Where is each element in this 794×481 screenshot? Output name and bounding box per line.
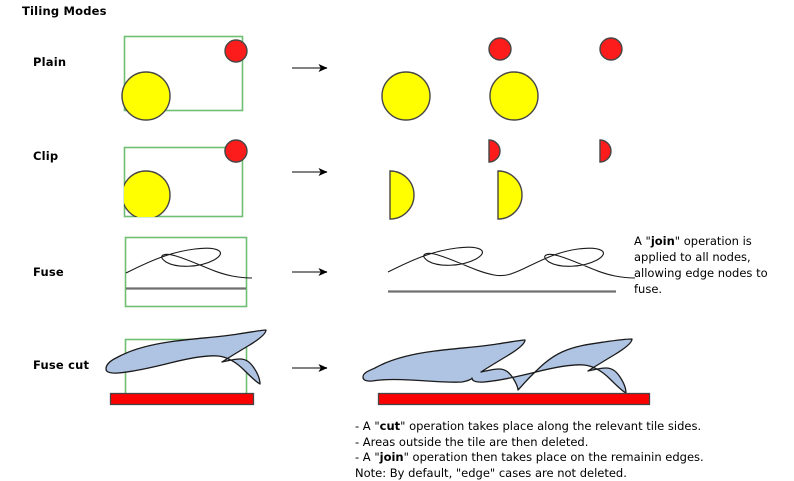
bar-red-fuse-cut-output bbox=[379, 394, 650, 405]
node-yellow-clip-input bbox=[122, 171, 170, 219]
node-red-plain-out-1 bbox=[489, 38, 511, 60]
fuse-cut-note-line-1: - A "cut" operation takes place along th… bbox=[355, 419, 704, 435]
row-label-fuse: Fuse bbox=[33, 265, 64, 279]
fuse-cut-note-line-3-post: " operation then takes place on the rema… bbox=[404, 450, 704, 464]
bar-red-fuse-cut-input bbox=[111, 394, 254, 405]
fuse-note-line-2: applied to all nodes, bbox=[634, 249, 768, 265]
row-label-clip: Clip bbox=[33, 149, 58, 163]
node-yellow-plain-out-1 bbox=[382, 72, 430, 120]
node-yellow-plain-input bbox=[122, 72, 170, 120]
fuse-note-line-4: fuse. bbox=[634, 281, 768, 297]
fuse-cut-note-line-1-pre: - A " bbox=[355, 419, 380, 433]
fuse-cut-note-line-1-bold: cut bbox=[380, 419, 401, 433]
node-red-plain-input bbox=[225, 40, 247, 62]
fuse-cut-note-line-1-post: " operation takes place along the releva… bbox=[400, 419, 701, 433]
node-yellow-plain-out-2 bbox=[490, 72, 538, 120]
fuse-cut-note-line-4: Note: By default, "edge" cases are not d… bbox=[355, 466, 704, 481]
fuse-cut-note-line-3-pre: - A " bbox=[355, 450, 380, 464]
node-red-clip-input-marker bbox=[225, 140, 247, 162]
fuse-note-line-1: A "join" operation is bbox=[634, 233, 768, 249]
fuse-note-line-1-bold: join bbox=[651, 234, 675, 248]
row-label-fuse-cut: Fuse cut bbox=[33, 358, 89, 372]
fuse-cut-note-line-2: - Areas outside the tile are then delete… bbox=[355, 435, 704, 451]
page-title: Tiling Modes bbox=[22, 4, 107, 18]
fuse-cut-note: - A "cut" operation takes place along th… bbox=[355, 419, 704, 481]
fuse-note: A "join" operation is applied to all nod… bbox=[634, 233, 768, 297]
fuse-note-line-1-post: " operation is bbox=[675, 234, 752, 248]
fuse-cut-note-line-3-bold: join bbox=[380, 450, 404, 464]
node-red-plain-out-2 bbox=[600, 38, 622, 60]
fuse-note-line-3: allowing edge nodes to bbox=[634, 265, 768, 281]
row-label-plain: Plain bbox=[33, 55, 66, 69]
fuse-cut-note-line-3: - A "join" operation then takes place on… bbox=[355, 450, 704, 466]
fuse-note-line-1-pre: A " bbox=[634, 234, 651, 248]
